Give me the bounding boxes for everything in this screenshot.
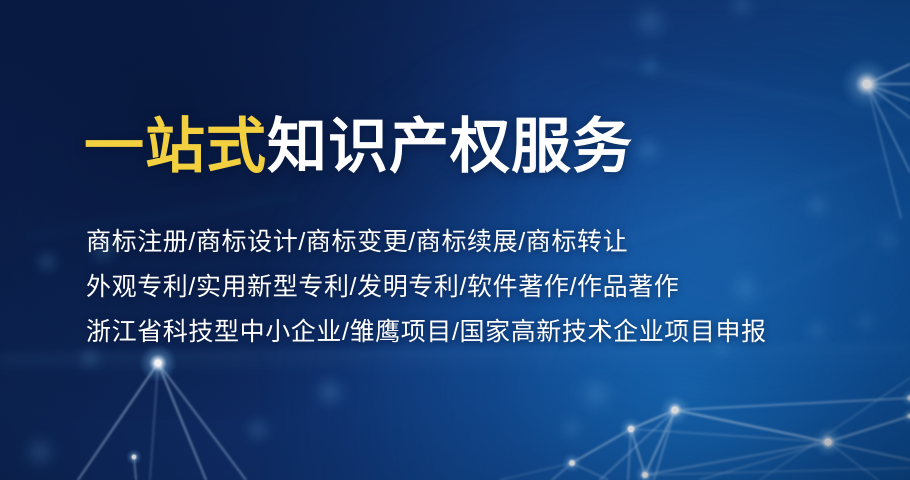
service-list: 商标注册/商标设计/商标变更/商标续展/商标转让 外观专利/实用新型专利/发明专… — [86, 220, 804, 355]
headline-main: 知识产权服务 — [267, 113, 633, 180]
service-line-enterprise: 浙江省科技型中小企业/雏鹰项目/国家高新技术企业项目申报 — [86, 310, 804, 355]
service-line-trademark: 商标注册/商标设计/商标变更/商标续展/商标转让 — [86, 220, 804, 265]
banner-text-block: 一站式知识产权服务 商标注册/商标设计/商标变更/商标续展/商标转让 外观专利/… — [84, 112, 804, 355]
promo-banner: 一站式知识产权服务 商标注册/商标设计/商标变更/商标续展/商标转让 外观专利/… — [0, 0, 910, 480]
page-title: 一站式知识产权服务 — [84, 112, 804, 182]
service-line-patent: 外观专利/实用新型专利/发明专利/软件著作/作品著作 — [86, 265, 804, 310]
headline-accent: 一站式 — [84, 113, 267, 180]
